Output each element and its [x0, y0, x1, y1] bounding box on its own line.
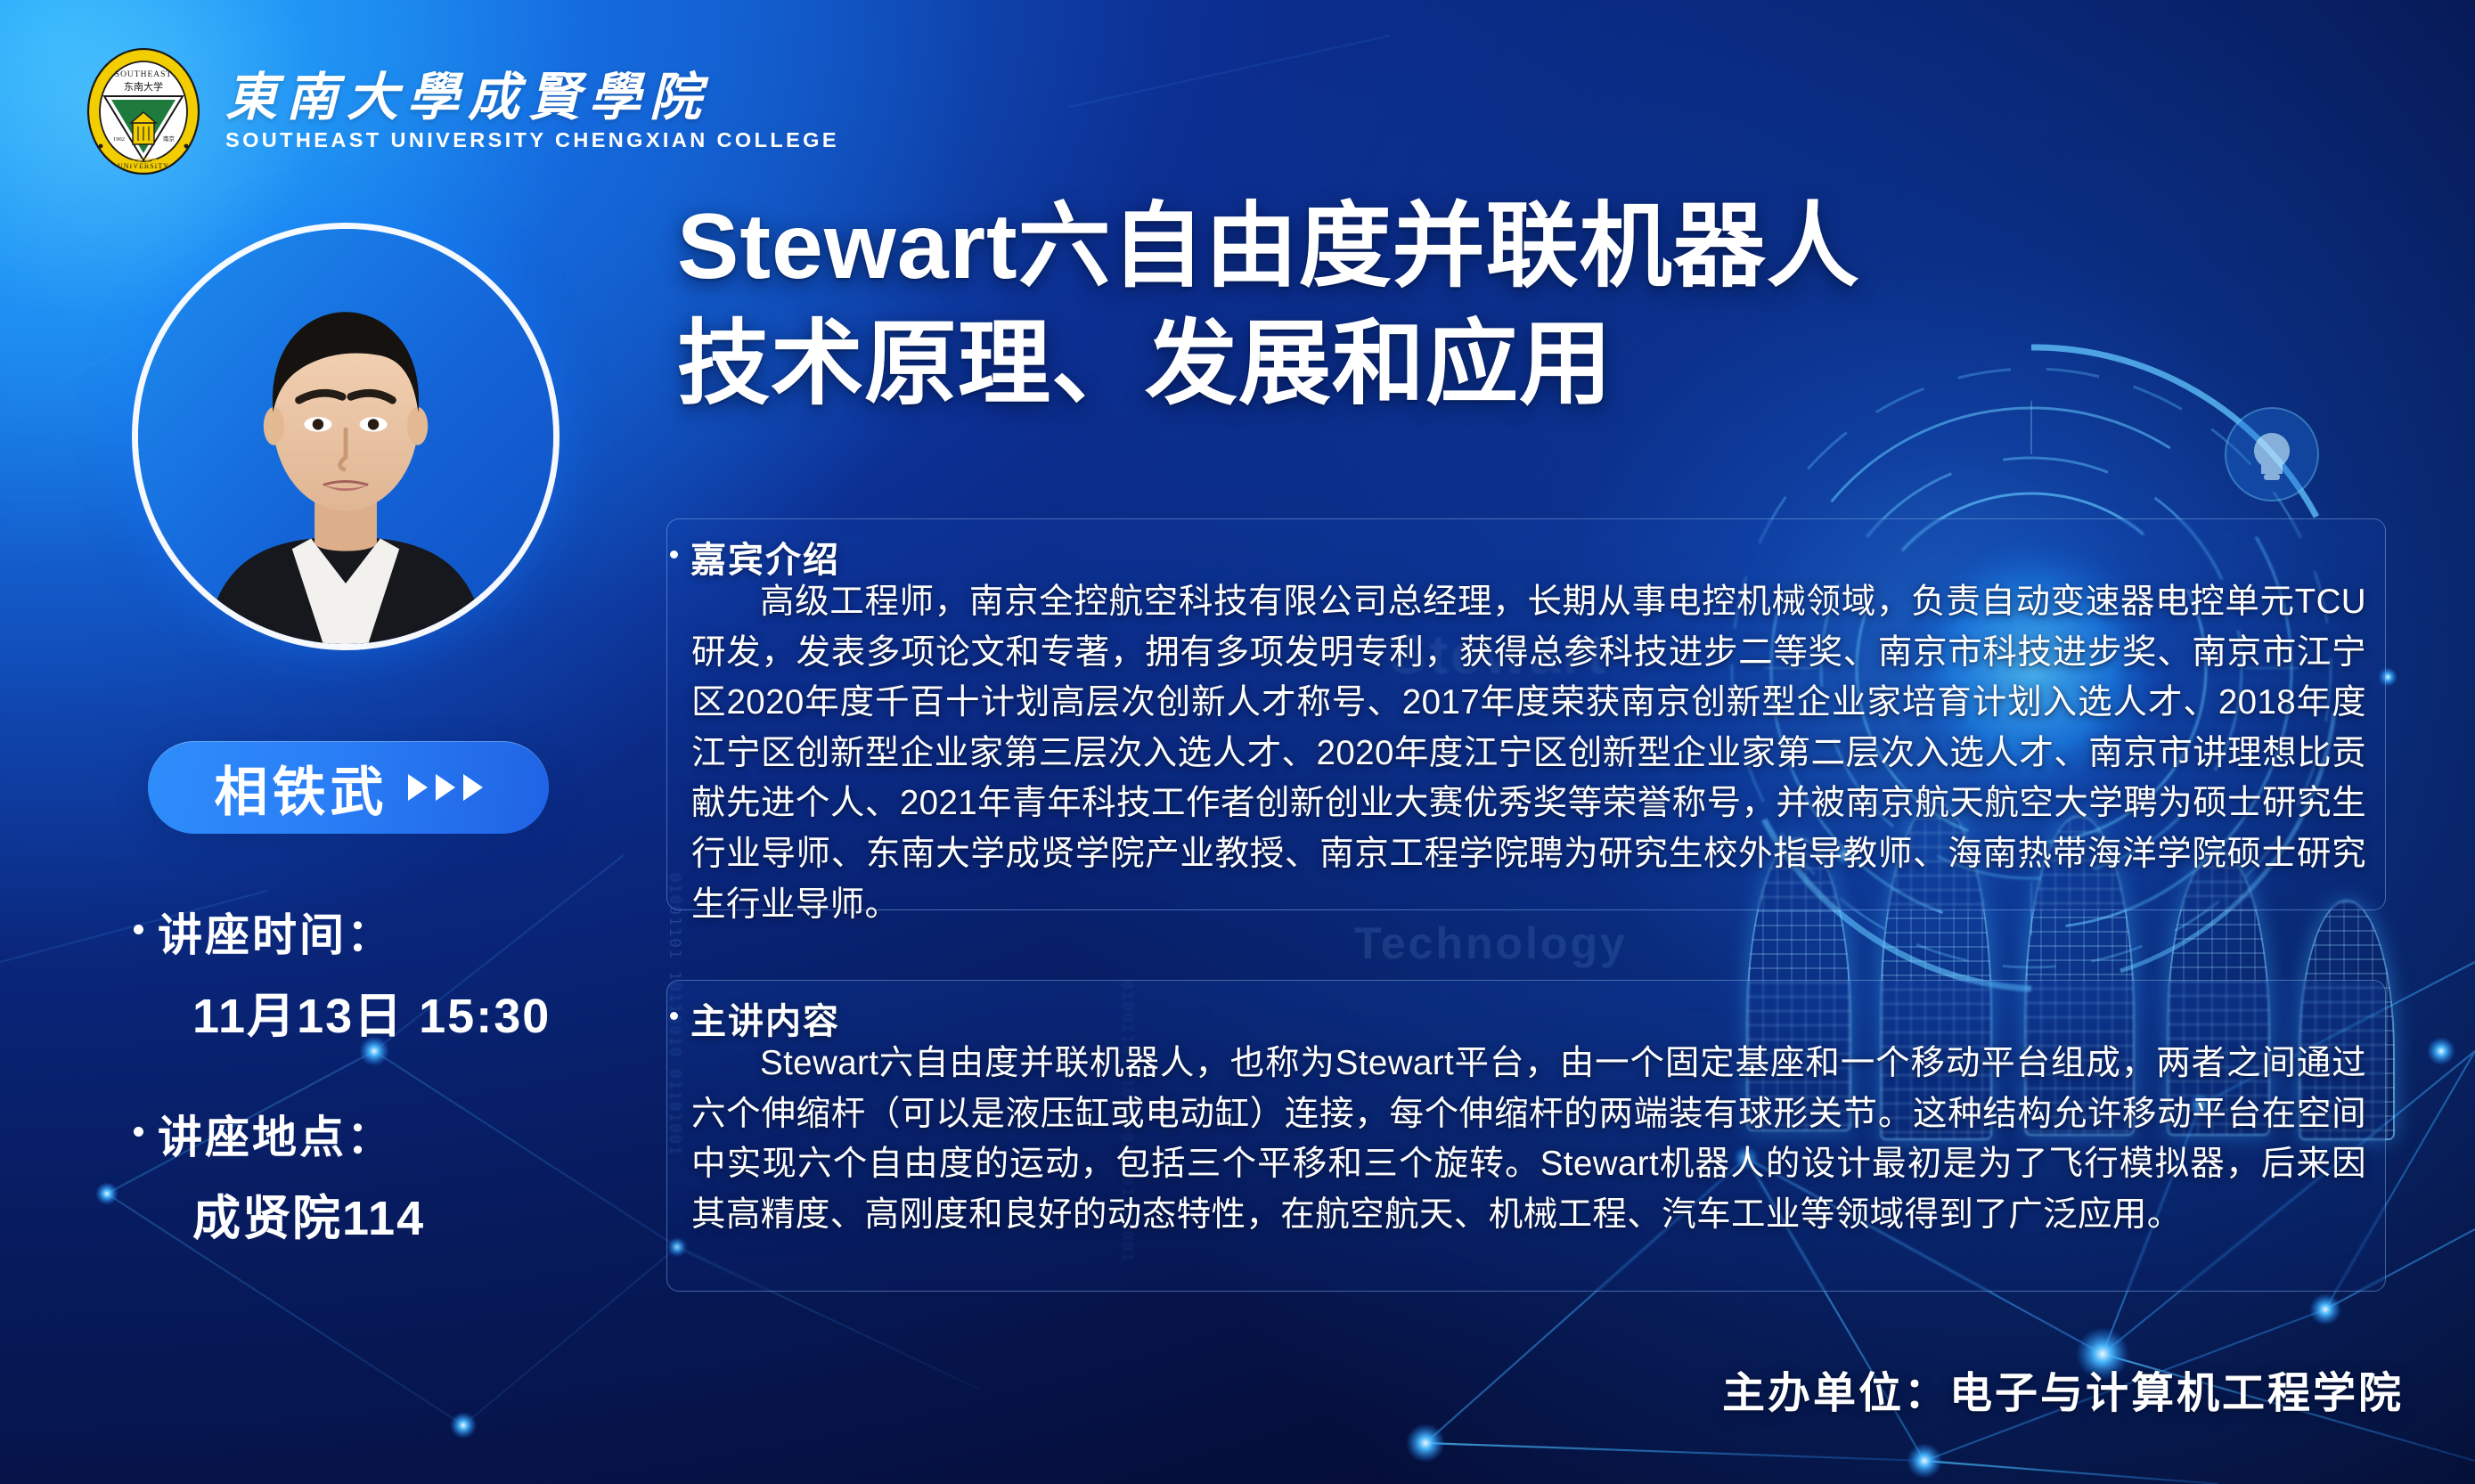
- university-crest-icon: SOUTHEAST UNIVERSITY 东南大学 1902 南京 止于至善: [85, 46, 202, 176]
- bullet-icon: [134, 1127, 143, 1137]
- title-line-1: Stewart六自由度并联机器人: [677, 198, 2370, 296]
- event-time-label-row: 讲座时间：: [134, 900, 686, 964]
- title-line-2: 技术原理、发展和应用: [677, 315, 2370, 413]
- play-arrows-icon: [408, 774, 483, 801]
- university-logo: SOUTHEAST UNIVERSITY 东南大学 1902 南京 止于至善 東…: [85, 46, 839, 176]
- poster-title: Stewart六自由度并联机器人 技术原理、发展和应用: [677, 198, 2370, 413]
- bullet-icon: [670, 1012, 678, 1020]
- bullet-icon: [670, 550, 678, 559]
- speaker-name-text: 相铁武: [215, 749, 388, 827]
- speaker-portrait-image: [138, 229, 553, 644]
- svg-text:SOUTHEAST: SOUTHEAST: [115, 70, 172, 79]
- guest-intro-heading: 嘉宾介绍: [690, 531, 840, 583]
- event-place-label-row: 讲座地点：: [134, 1102, 686, 1166]
- bullet-icon: [134, 925, 143, 934]
- svg-text:1902: 1902: [113, 136, 125, 143]
- spacer: [134, 1063, 686, 1102]
- topic-heading: 主讲内容: [690, 992, 840, 1044]
- speaker-portrait-frame: [132, 223, 560, 650]
- event-place-value: 成贤院114: [192, 1178, 686, 1249]
- logo-name-en: SOUTHEAST UNIVERSITY CHENGXIAN COLLEGE: [225, 128, 839, 152]
- event-time-label: 讲座时间：: [158, 900, 394, 964]
- topic-heading-row: 主讲内容: [670, 992, 840, 1044]
- poster-canvas: 01001101 10110010 01101001 01001101 1011…: [0, 0, 2475, 1484]
- event-place-row: 讲座地点： 成贤院114: [134, 1102, 686, 1249]
- organizer-footer: 主办单位：电子与计算机工程学院: [1722, 1358, 2404, 1420]
- logo-name-cn: 東南大學成賢學院: [225, 70, 839, 125]
- event-place-label: 讲座地点：: [158, 1102, 394, 1166]
- event-info: 讲座时间： 11月13日 15:30 讲座地点： 成贤院114: [134, 900, 686, 1265]
- event-time-value: 11月13日 15:30: [192, 976, 686, 1047]
- topic-body: Stewart六自由度并联机器人，也称为Stewart平台，由一个固定基座和一个…: [691, 1039, 2366, 1240]
- speaker-name-badge: 相铁武: [148, 741, 549, 834]
- logo-wordmark: 東南大學成賢學院 SOUTHEAST UNIVERSITY CHENGXIAN …: [225, 70, 839, 152]
- svg-text:东南大学: 东南大学: [124, 80, 163, 93]
- guest-intro-heading-row: 嘉宾介绍: [670, 531, 840, 583]
- guest-intro-body: 高级工程师，南京全控航空科技有限公司总经理，长期从事电控机械领域，负责自动变速器…: [691, 577, 2366, 930]
- event-time-row: 讲座时间： 11月13日 15:30: [134, 900, 686, 1047]
- svg-text:南京: 南京: [163, 135, 176, 143]
- svg-text:止于至善: 止于至善: [129, 157, 158, 166]
